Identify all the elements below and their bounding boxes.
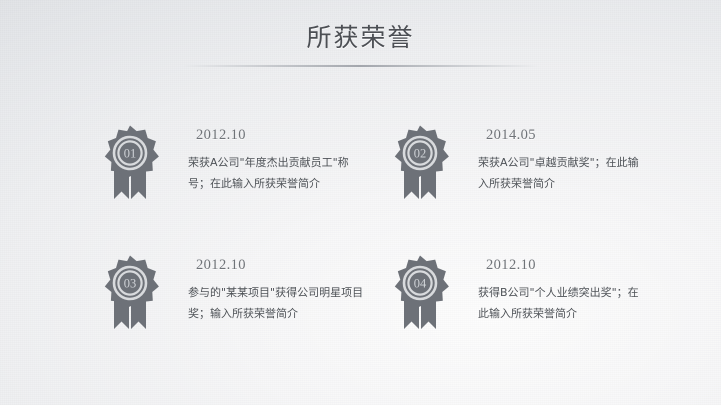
honor-grid: 01 2012.10 荣获A公司"年度杰出贡献员工"称号；在此输入所获荣誉简介 …	[96, 118, 666, 378]
honor-description: 荣获A公司"年度杰出贡献员工"称号；在此输入所获荣誉简介	[188, 152, 366, 194]
award-badge-icon: 02	[386, 124, 454, 204]
honor-text: 2012.10 获得B公司"个人业绩突出奖"；在此输入所获荣誉简介	[454, 248, 646, 324]
honor-date: 2012.10	[188, 126, 366, 144]
honor-text: 2014.05 荣获A公司"卓越贡献奖"；在此输入所获荣誉简介	[454, 118, 646, 194]
honor-date: 2012.10	[478, 256, 646, 274]
page-title: 所获荣誉	[0, 22, 721, 54]
honor-date: 2012.10	[188, 256, 366, 274]
title-block: 所获荣誉	[0, 22, 721, 67]
honor-description: 参与的"某某项目"获得公司明星项目奖；输入所获荣誉简介	[188, 282, 366, 324]
badge-number: 04	[414, 277, 427, 291]
title-divider	[183, 65, 538, 67]
honor-date: 2014.05	[478, 126, 646, 144]
award-badge-icon: 03	[96, 254, 164, 334]
honor-item[interactable]: 02 2014.05 荣获A公司"卓越贡献奖"；在此输入所获荣誉简介	[386, 118, 666, 248]
honor-item[interactable]: 01 2012.10 荣获A公司"年度杰出贡献员工"称号；在此输入所获荣誉简介	[96, 118, 386, 248]
badge-number: 01	[124, 147, 137, 161]
badge-number: 02	[414, 147, 427, 161]
honor-text: 2012.10 荣获A公司"年度杰出贡献员工"称号；在此输入所获荣誉简介	[164, 118, 366, 194]
badge-number: 03	[124, 277, 137, 291]
award-badge-icon: 04	[386, 254, 454, 334]
honor-item[interactable]: 04 2012.10 获得B公司"个人业绩突出奖"；在此输入所获荣誉简介	[386, 248, 666, 378]
honor-item[interactable]: 03 2012.10 参与的"某某项目"获得公司明星项目奖；输入所获荣誉简介	[96, 248, 386, 378]
award-badge-icon: 01	[96, 124, 164, 204]
slide-canvas: 所获荣誉 01 2012.10 荣获A公司"年度杰出贡献员工"称号；在此输入所获…	[0, 0, 721, 405]
honor-description: 荣获A公司"卓越贡献奖"；在此输入所获荣誉简介	[478, 152, 646, 194]
honor-description: 获得B公司"个人业绩突出奖"；在此输入所获荣誉简介	[478, 282, 646, 324]
honor-text: 2012.10 参与的"某某项目"获得公司明星项目奖；输入所获荣誉简介	[164, 248, 366, 324]
